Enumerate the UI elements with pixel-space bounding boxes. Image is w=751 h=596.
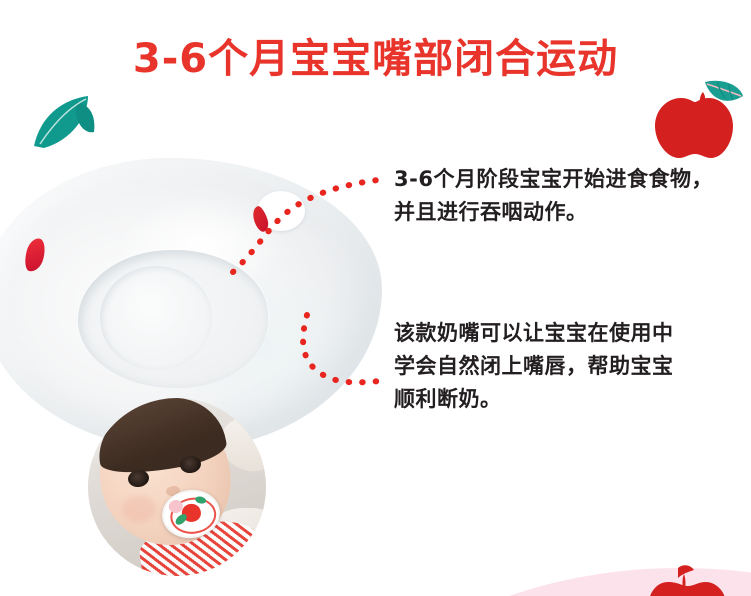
callout-weaning: 该款奶嘴可以让宝宝在使用中 学会自然闭上嘴唇，帮助宝宝 顺利断奶。 [392, 317, 676, 416]
pacifier-inner-ring [100, 266, 212, 370]
page-title: 3-6个月宝宝嘴部闭合运动 [0, 26, 751, 84]
callout-line: 学会自然闭上嘴唇，帮助宝宝 [392, 350, 676, 383]
leaf-icon [30, 90, 102, 152]
callout-feeding: 3-6个月阶段宝宝开始进食食物， 并且进行吞咽动作。 [392, 163, 715, 229]
apple-icon [645, 76, 745, 162]
apple-icon [648, 562, 726, 596]
callout-line: 3-6个月阶段宝宝开始进食食物， [392, 163, 715, 196]
baby-with-pacifier-photo [88, 398, 266, 576]
callout-line: 顺利断奶。 [392, 383, 676, 416]
baby-cheek [122, 496, 156, 522]
callout-line: 该款奶嘴可以让宝宝在使用中 [392, 317, 676, 350]
callout-line: 并且进行吞咽动作。 [392, 196, 715, 229]
product-infographic-page: 3-6个月宝宝嘴部闭合运动 [0, 0, 751, 596]
